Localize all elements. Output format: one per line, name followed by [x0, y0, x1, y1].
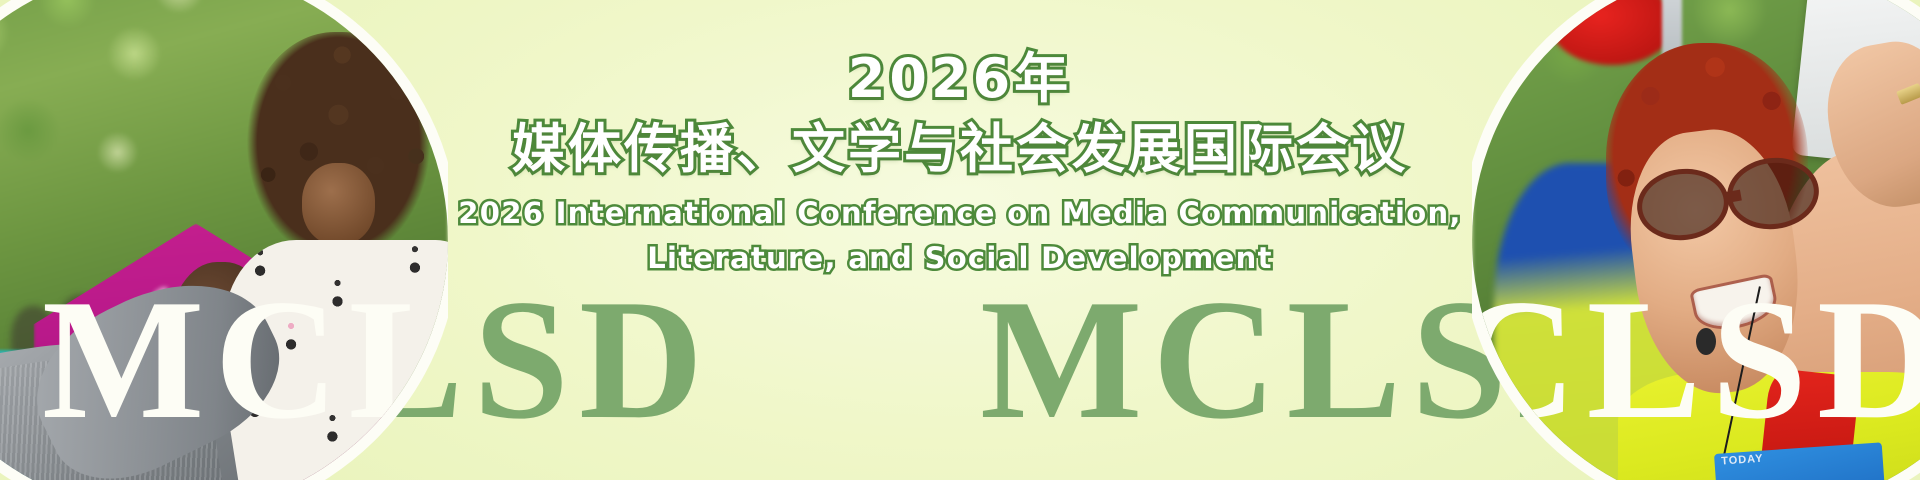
watermark-acronym-right-overlay: MCLSD [1472, 274, 1920, 446]
left-watermark-clip: MCLSD [0, 0, 448, 480]
right-watermark-clip-circle: MCLSD [1472, 0, 1920, 480]
conference-banner: MCLSD MCLSD 1979 1979 [0, 0, 1920, 480]
left-watermark-clip-circle: MCLSD [0, 0, 448, 480]
watermark-acronym-left-overlay: MCLSD [42, 274, 448, 446]
right-watermark-clip: MCLSD [1472, 0, 1920, 480]
